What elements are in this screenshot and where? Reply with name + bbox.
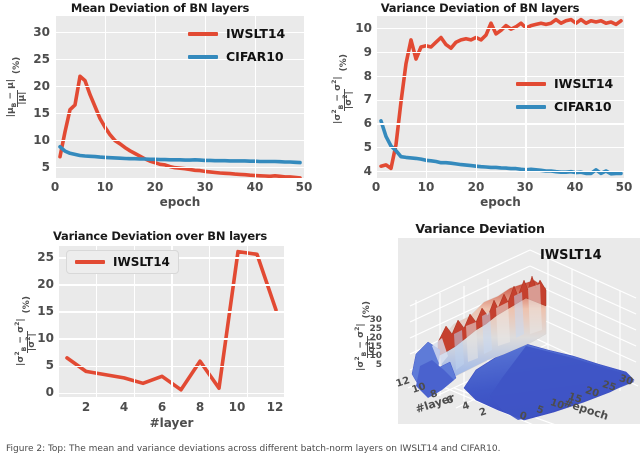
legend-variance-layer: IWSLT14 bbox=[66, 250, 179, 274]
xtick-mean-10: 10 bbox=[95, 180, 115, 194]
ztick-5: 5 bbox=[356, 360, 382, 370]
legend-swatch-iwslt14 bbox=[75, 260, 105, 264]
ytick-mean-25: 25 bbox=[18, 52, 50, 66]
xtick-layer-12: 12 bbox=[262, 400, 288, 414]
ytick-var-5: 5 bbox=[342, 140, 372, 154]
legend-label-iwslt14: IWSLT14 bbox=[554, 76, 613, 91]
legend-label-cifar10: CIFAR10 bbox=[554, 99, 612, 114]
panel-variance-deviation-layer: Variance Deviation over BN layers |σ2B −… bbox=[0, 215, 320, 451]
ytick-mean-5: 5 bbox=[18, 160, 50, 174]
ytick-layer-0: 0 bbox=[24, 385, 54, 399]
ytick-mean-30: 30 bbox=[18, 25, 50, 39]
xtick-layer-8: 8 bbox=[190, 400, 210, 414]
legend-item-iwslt14: IWSLT14 bbox=[75, 255, 170, 269]
legend-label-cifar10: CIFAR10 bbox=[226, 49, 284, 64]
x-axis-label-variance-epoch: epoch bbox=[376, 195, 625, 209]
xtick-var-50: 50 bbox=[614, 180, 634, 194]
legend-item-cifar10: CIFAR10 bbox=[516, 99, 613, 114]
xtick-var-0: 0 bbox=[366, 180, 386, 194]
xtick-mean-0: 0 bbox=[45, 180, 65, 194]
legend-swatch-cifar10 bbox=[516, 105, 546, 109]
ytick-layer-20: 20 bbox=[17, 277, 54, 291]
panel-mean-deviation: Mean Deviation of BN layers |μB − μ| |μ|… bbox=[0, 0, 320, 212]
legend-label-iwslt14: IWSLT14 bbox=[113, 255, 170, 269]
ytick-layer-5: 5 bbox=[24, 358, 54, 372]
xtick-mean-50: 50 bbox=[294, 180, 314, 194]
ytick-mean-20: 20 bbox=[18, 79, 50, 93]
xtick-var-20: 20 bbox=[466, 180, 486, 194]
figure-root: Mean Deviation of BN layers |μB − μ| |μ|… bbox=[0, 0, 640, 451]
x-axis-label-mean-deviation: epoch bbox=[55, 195, 305, 209]
xtick-var-10: 10 bbox=[416, 180, 436, 194]
ytick-var-7: 7 bbox=[342, 92, 372, 106]
xtick-mean-40: 40 bbox=[245, 180, 265, 194]
legend-label-iwslt14: IWSLT14 bbox=[226, 26, 285, 41]
panel-title-variance-deviation-layer: Variance Deviation over BN layers bbox=[0, 229, 320, 243]
xtick-var-30: 30 bbox=[515, 180, 535, 194]
legend-mean-deviation: IWSLT14 CIFAR10 bbox=[188, 26, 285, 64]
panel-title-variance-deviation-surface: Variance Deviation bbox=[320, 221, 640, 236]
panel-title-mean-deviation: Mean Deviation of BN layers bbox=[0, 1, 320, 15]
ytick-layer-15: 15 bbox=[17, 304, 54, 318]
xtick-layer-6: 6 bbox=[152, 400, 172, 414]
legend-item-cifar10: CIFAR10 bbox=[188, 49, 285, 64]
panel-variance-deviation-epoch: Variance Deviation of BN layers |σ2B − σ… bbox=[320, 0, 640, 212]
xtick-mean-20: 20 bbox=[145, 180, 165, 194]
ytick-mean-15: 15 bbox=[18, 106, 50, 120]
xtick-layer-2: 2 bbox=[76, 400, 96, 414]
panel-title-variance-deviation-epoch: Variance Deviation of BN layers bbox=[320, 1, 640, 15]
xtick-layer-4: 4 bbox=[114, 400, 134, 414]
ytick-var-9: 9 bbox=[342, 45, 372, 59]
ytick-mean-10: 10 bbox=[18, 133, 50, 147]
legend-variance-epoch: IWSLT14 CIFAR10 bbox=[516, 76, 613, 114]
panel-variance-deviation-surface: Variance Deviation bbox=[320, 215, 640, 451]
ytick-layer-25: 25 bbox=[17, 250, 54, 264]
xtick-var-40: 40 bbox=[565, 180, 585, 194]
annotation-iwslt14-surface: IWSLT14 bbox=[540, 248, 602, 263]
legend-item-iwslt14: IWSLT14 bbox=[188, 26, 285, 41]
ytick-var-8: 8 bbox=[342, 69, 372, 83]
xtick-mean-30: 30 bbox=[195, 180, 215, 194]
figure-caption: Figure 2: Top: The mean and variance dev… bbox=[0, 444, 640, 454]
series-line-cifar10 bbox=[60, 147, 300, 163]
legend-item-iwslt14: IWSLT14 bbox=[516, 76, 613, 91]
legend-swatch-cifar10 bbox=[188, 55, 218, 59]
xtick-layer-10: 10 bbox=[224, 400, 250, 414]
x-axis-label-variance-layer: #layer bbox=[58, 416, 285, 430]
ytick-var-6: 6 bbox=[342, 116, 372, 130]
ytick-var-4: 4 bbox=[342, 164, 372, 178]
ytick-layer-10: 10 bbox=[17, 331, 54, 345]
legend-swatch-iwslt14 bbox=[188, 32, 218, 36]
ytick-var-10: 10 bbox=[334, 21, 372, 35]
legend-swatch-iwslt14 bbox=[516, 82, 546, 86]
